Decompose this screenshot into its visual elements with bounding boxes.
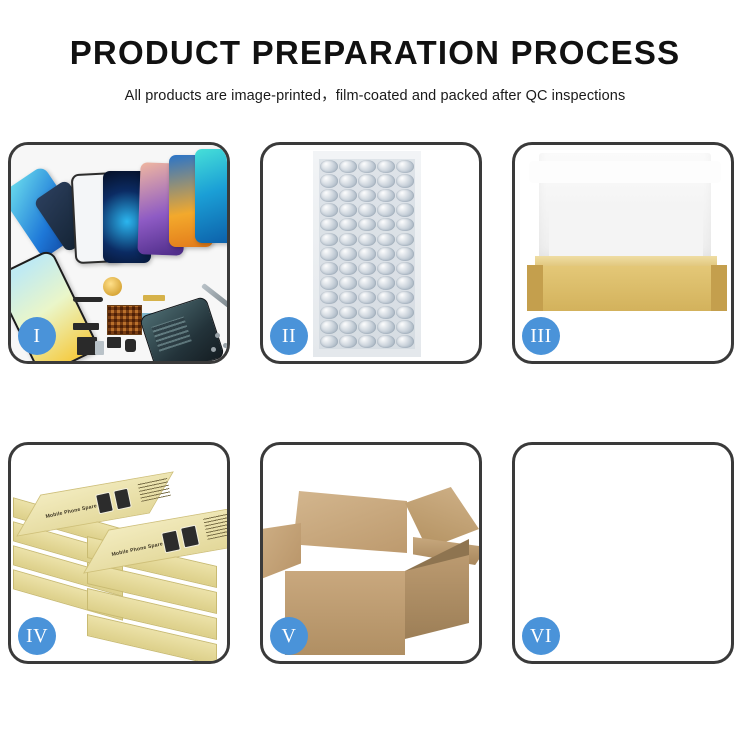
bubble (377, 247, 395, 260)
process-step-4: Mobile Phone Spare Parts Mobile Phone Sp… (8, 442, 230, 664)
bubble (320, 233, 338, 246)
bubble (396, 291, 414, 304)
bubble (377, 189, 395, 202)
step-badge-1: I (18, 317, 56, 355)
bubble (320, 262, 338, 275)
process-step-2: II (260, 142, 482, 364)
step-badge-2: II (270, 317, 308, 355)
bubble (396, 306, 414, 319)
bubble (377, 262, 395, 275)
bubble (339, 262, 357, 275)
bubble (320, 189, 338, 202)
bubble (339, 320, 357, 333)
retail-box-v-b3 (299, 445, 315, 489)
bubble (377, 335, 395, 348)
page-title: PRODUCT PREPARATION PROCESS (0, 36, 750, 71)
process-step-6: VI (512, 442, 734, 664)
bubble (358, 306, 376, 319)
flex-cable-strip-4 (143, 295, 165, 301)
bubble (358, 291, 376, 304)
step-badge-4: IV (18, 617, 56, 655)
bubble (358, 320, 376, 333)
bubble (339, 335, 357, 348)
page-header: PRODUCT PREPARATION PROCESS All products… (0, 0, 750, 105)
retail-box-v-b2 (281, 445, 297, 489)
box-end-left (527, 265, 543, 311)
step-badge-5: V (270, 617, 308, 655)
bubble (320, 247, 338, 260)
bubble (358, 189, 376, 202)
bubble (377, 203, 395, 216)
box-end-right (711, 265, 727, 311)
bubble (377, 160, 395, 173)
bubble (320, 203, 338, 216)
bubble (358, 276, 376, 289)
bubble (396, 203, 414, 216)
bubble (339, 189, 357, 202)
small-chip-2 (125, 339, 136, 352)
flex-cable-strip-2 (73, 323, 99, 330)
flex-cable-strip-1 (73, 297, 103, 302)
screw-1 (215, 333, 220, 338)
bubble (396, 189, 414, 202)
bubble (377, 306, 395, 319)
retail-box-v-b1 (263, 445, 279, 489)
bubble (320, 320, 338, 333)
bubble (396, 320, 414, 333)
process-panel-grid: I II III (8, 142, 742, 664)
small-chip-1 (107, 337, 121, 348)
bubble (377, 276, 395, 289)
step-badge-6: VI (522, 617, 560, 655)
bubble (339, 247, 357, 260)
bubble (358, 262, 376, 275)
retail-box-v-b5 (335, 445, 351, 489)
bubble (339, 306, 357, 319)
bubble (396, 262, 414, 275)
bubble (339, 203, 357, 216)
bubble (396, 335, 414, 348)
bubble (339, 174, 357, 187)
process-step-3: III (512, 142, 734, 364)
bubble (358, 203, 376, 216)
bubble (396, 160, 414, 173)
process-step-5: V (260, 442, 482, 664)
step-badge-3: III (522, 317, 560, 355)
phone-display-teal (195, 149, 227, 243)
bubble (320, 160, 338, 173)
small-chip-3 (95, 341, 104, 355)
bubble (396, 218, 414, 231)
bubble (396, 276, 414, 289)
vibration-motor-coil (103, 277, 122, 296)
bubble (377, 218, 395, 231)
bubble (358, 174, 376, 187)
bubble (358, 233, 376, 246)
bubble (358, 160, 376, 173)
bubble (396, 174, 414, 187)
bubble (320, 276, 338, 289)
bubble (320, 335, 338, 348)
bubble (320, 218, 338, 231)
bubble (377, 174, 395, 187)
bubble (320, 291, 338, 304)
bubble (320, 306, 338, 319)
bubble (339, 233, 357, 246)
box-base-kraft (535, 265, 717, 311)
bubble (377, 320, 395, 333)
page-subtitle: All products are image-printed，film-coat… (0, 84, 750, 105)
connector-pin-array (107, 305, 142, 335)
bubble (358, 218, 376, 231)
box-lid-flap (529, 161, 721, 183)
retail-box-v-b4 (317, 445, 333, 489)
bubble (396, 233, 414, 246)
screw-2 (223, 343, 227, 348)
bubble (377, 233, 395, 246)
bubble (396, 247, 414, 260)
bubble (377, 291, 395, 304)
process-step-1: I (8, 142, 230, 364)
flex-cable-strip-3 (77, 337, 97, 355)
bubble (358, 335, 376, 348)
carton-flap-back (293, 491, 407, 553)
bubble (339, 218, 357, 231)
bubble (339, 276, 357, 289)
bubble (320, 174, 338, 187)
bubble (339, 291, 357, 304)
bubble (358, 247, 376, 260)
bubble-field (319, 159, 415, 349)
screw-3 (211, 347, 216, 352)
bubble (339, 160, 357, 173)
